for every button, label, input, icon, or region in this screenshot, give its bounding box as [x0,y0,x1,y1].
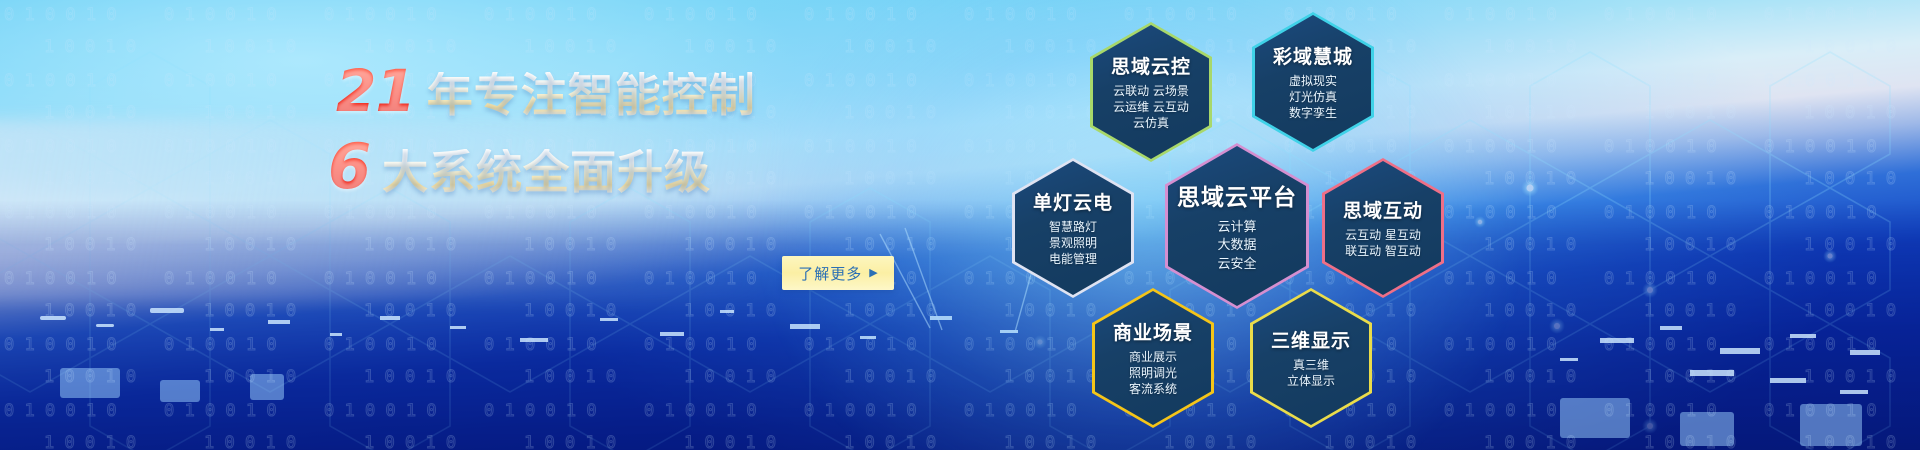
hexagon-content: 彩域慧城 虚拟现实 灯光仿真 数字孪生 [1267,42,1359,121]
hexagon-dandeng-yundian[interactable]: 单灯云电 智慧路灯 景观照明 电能管理 [1012,158,1134,298]
hexagon-sub-line: 云仿真 [1111,116,1191,132]
hexagon-sub-line: 云安全 [1177,256,1297,274]
promo-banner: 0 1 0 0 1 0 1 0 0 1 0 21 年专注智能控制 6 大系统全面… [0,0,1920,450]
hexagon-title: 彩域慧城 [1273,42,1353,69]
headline-line-2: 6 大系统全面升级 [328,136,798,198]
hexagon-caiyu-huicheng[interactable]: 彩域慧城 虚拟现实 灯光仿真 数字孪生 [1252,12,1374,152]
hexagon-sub-line: 电能管理 [1033,252,1113,268]
hexagon-siyu-yun-pingtai[interactable]: 思域云平台 云计算 大数据 云安全 [1165,143,1309,309]
hexagon-title: 思域云平台 [1177,178,1297,212]
hexagon-sanwei-xianshi[interactable]: 三维显示 真三维 立体显示 [1250,288,1372,428]
hexagon-content: 三维显示 真三维 立体显示 [1265,326,1357,390]
hexagon-sub-line: 数字孪生 [1273,106,1353,122]
hexagon-sub-line: 客流系统 [1113,382,1193,398]
headline-number-6: 6 [328,136,374,198]
hexagon-sub-line: 智慧路灯 [1033,220,1113,236]
headline-text-2: 大系统全面升级 [374,149,711,195]
solution-hexagon-cluster: 思域云控 云联动 云场景 云运维 云互动 云仿真 彩域慧城 虚拟现实 灯光仿真 … [950,0,1510,450]
hexagon-content: 单灯云电 智慧路灯 景观照明 电能管理 [1027,188,1119,267]
learn-more-button[interactable]: 了解更多 ▶ [782,256,894,290]
headline-number-21: 21 [336,62,419,120]
hexagon-title: 商业场景 [1113,318,1193,345]
hexagon-content: 商业场景 商业展示 照明调光 客流系统 [1107,318,1199,397]
hexagon-title: 单灯云电 [1033,188,1113,215]
headline-text-1: 年专注智能控制 [419,72,756,118]
hexagon-siyu-hudong[interactable]: 思域互动 云互动 星互动 联互动 智互动 [1322,158,1444,298]
hexagon-content: 思域云平台 云计算 大数据 云安全 [1171,178,1303,274]
hexagon-sub-line: 虚拟现实 [1273,74,1353,90]
hexagon-sub-line: 真三维 [1271,358,1351,374]
hexagon-title: 思域互动 [1343,196,1423,223]
hexagon-content: 思域互动 云互动 星互动 联互动 智互动 [1337,196,1429,260]
hexagon-sub-line: 云互动 星互动 [1343,228,1423,244]
hexagon-sub-line: 大数据 [1177,237,1297,255]
hexagon-sub-line: 联互动 智互动 [1343,244,1423,260]
hexagon-title: 三维显示 [1271,326,1351,353]
hexagon-sub-line: 云运维 云互动 [1111,100,1191,116]
hexagon-siyu-yunkong[interactable]: 思域云控 云联动 云场景 云运维 云互动 云仿真 [1090,22,1212,162]
hexagon-title: 思域云控 [1111,52,1191,79]
hexagon-sub-line: 灯光仿真 [1273,90,1353,106]
hexagon-sub-line: 景观照明 [1033,236,1113,252]
hexagon-shangye-changjing[interactable]: 商业场景 商业展示 照明调光 客流系统 [1092,288,1214,428]
hexagon-content: 思域云控 云联动 云场景 云运维 云互动 云仿真 [1105,52,1197,131]
headline-block: 21 年专注智能控制 6 大系统全面升级 [328,62,798,198]
hexagon-sub-line: 商业展示 [1113,350,1193,366]
hexagon-sub-line: 云计算 [1177,219,1297,237]
hexagon-sub-line: 云联动 云场景 [1111,84,1191,100]
headline-line-1: 21 年专注智能控制 [336,62,798,120]
learn-more-label: 了解更多 [798,263,862,284]
hexagon-sub-line: 立体显示 [1271,374,1351,390]
arrow-right-icon: ▶ [869,268,877,279]
hexagon-sub-line: 照明调光 [1113,366,1193,382]
